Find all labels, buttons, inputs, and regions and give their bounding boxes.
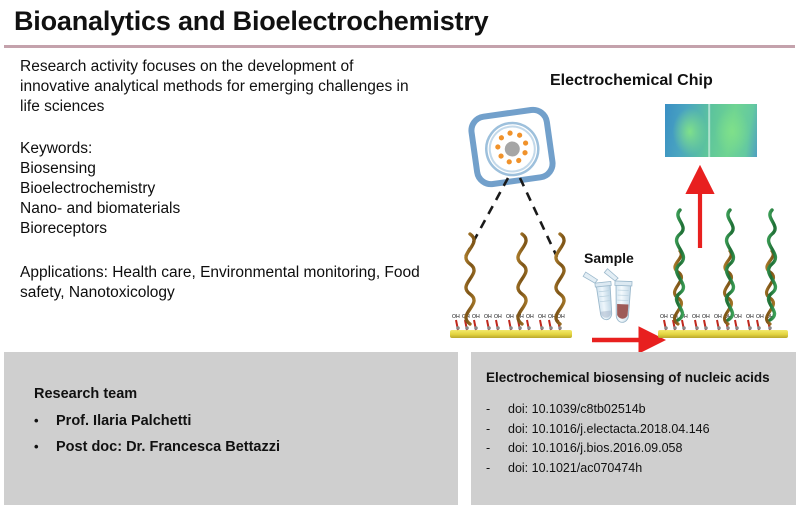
chip-graphic <box>470 108 555 186</box>
bullet-icon: • <box>34 408 56 434</box>
svg-text:OH: OH <box>660 314 668 320</box>
zoom-callout-lines <box>465 178 557 257</box>
duplex-electrode-group: OHOHOH OHOH OHOHOH OHOHOH <box>658 210 788 338</box>
list-item: • Prof. Ilaria Palchetti <box>34 408 434 434</box>
svg-text:OH: OH <box>494 314 502 320</box>
page-title: Bioanalytics and Bioelectrochemistry <box>14 6 488 37</box>
applications-paragraph: Applications: Health care, Environmental… <box>20 263 420 303</box>
research-team-list: • Prof. Ilaria Palchetti • Post doc: Dr.… <box>34 408 434 460</box>
svg-text:OH: OH <box>506 314 514 320</box>
biosensor-diagram: Electrochemical Chip <box>440 52 799 352</box>
keywords-block: Keywords: Biosensing Bioelectrochemistry… <box>20 139 420 239</box>
dash-icon: - <box>486 420 508 440</box>
intro-paragraph: Research activity focuses on the develop… <box>20 57 420 117</box>
svg-text:OH: OH <box>538 314 546 320</box>
linker-feet-right <box>664 326 772 330</box>
list-item: - doi: 10.1039/c8tb02514b <box>486 400 786 420</box>
svg-text:OH: OH <box>734 314 742 320</box>
publications-list: - doi: 10.1039/c8tb02514b - doi: 10.1016… <box>486 400 786 478</box>
list-item: - doi: 10.1016/j.bios.2016.09.058 <box>486 439 786 459</box>
svg-text:OH: OH <box>526 314 534 320</box>
svg-text:OH: OH <box>484 314 492 320</box>
dash-icon: - <box>486 439 508 459</box>
svg-text:OH: OH <box>746 314 754 320</box>
linker-feet-left <box>456 326 562 330</box>
svg-text:OH: OH <box>472 314 480 320</box>
sample-label: Sample <box>584 250 634 266</box>
title-divider <box>4 45 795 48</box>
keywords-heading: Keywords: <box>20 139 420 159</box>
gold-electrode-left <box>450 330 572 338</box>
list-item: • Post doc: Dr. Francesca Bettazzi <box>34 434 434 460</box>
svg-text:OH: OH <box>756 314 764 320</box>
doi-text: doi: 10.1021/ac070474h <box>508 459 642 479</box>
linker-group-left <box>456 320 560 330</box>
keyword-item: Bioelectrochemistry <box>20 179 420 199</box>
left-text-column: Research activity focuses on the develop… <box>20 57 420 303</box>
probe-electrode-group: OHOHOH OHOH OHOHOH OHOHOH <box>450 234 572 338</box>
team-member-name: Post doc: Dr. Francesca Bettazzi <box>56 434 280 460</box>
dash-icon: - <box>486 459 508 479</box>
linker-group-right <box>664 320 770 330</box>
gold-electrode-right <box>658 330 788 338</box>
svg-text:OH: OH <box>702 314 710 320</box>
keyword-item: Bioreceptors <box>20 219 420 239</box>
keyword-item: Biosensing <box>20 159 420 179</box>
diagram-graphics: OHOHOH OHOH OHOHOH OHOHOH <box>440 52 799 352</box>
svg-text:OH: OH <box>452 314 460 320</box>
doi-text: doi: 10.1016/j.electacta.2018.04.146 <box>508 420 710 440</box>
list-item: - doi: 10.1016/j.electacta.2018.04.146 <box>486 420 786 440</box>
probe-strands <box>466 234 564 324</box>
team-member-name: Prof. Ilaria Palchetti <box>56 408 191 434</box>
publications-heading: Electrochemical biosensing of nucleic ac… <box>486 370 786 385</box>
list-item: - doi: 10.1021/ac070474h <box>486 459 786 479</box>
oh-labels-left: OHOHOH OHOH OHOHOH OHOHOH <box>452 314 565 320</box>
svg-text:OH: OH <box>714 314 722 320</box>
bullet-icon: • <box>34 434 56 460</box>
research-team-heading: Research team <box>34 386 137 402</box>
doi-text: doi: 10.1016/j.bios.2016.09.058 <box>508 439 682 459</box>
slide-root: Bioanalytics and Bioelectrochemistry Res… <box>0 0 799 509</box>
svg-text:OH: OH <box>692 314 700 320</box>
sample-tubes-group <box>583 269 633 323</box>
doi-text: doi: 10.1039/c8tb02514b <box>508 400 646 420</box>
dash-icon: - <box>486 400 508 420</box>
keyword-item: Nano- and biomaterials <box>20 199 420 219</box>
